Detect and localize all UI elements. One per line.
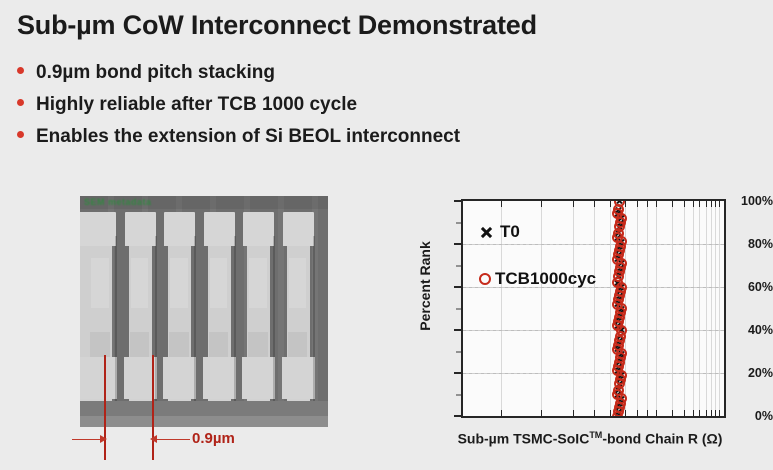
x-axis-tick [672, 410, 673, 416]
x-axis-tick-top [573, 201, 574, 207]
dimension-arrow-right-head-icon [100, 435, 107, 443]
x-axis-tick-top [672, 201, 673, 207]
sem-pillar [247, 212, 270, 405]
sem-pillar-foot [242, 357, 275, 399]
chart-legend: T0 TCB1000cyc [479, 217, 596, 294]
list-item: 0.9µm bond pitch stacking [17, 62, 617, 94]
x-axis-tick-top [693, 201, 694, 207]
x-axis-tick [684, 410, 685, 416]
sem-pillar-partial [80, 212, 89, 405]
x-axis-tick [501, 410, 502, 416]
sem-pillar-seam [234, 236, 236, 401]
x-axis-tick [541, 410, 542, 416]
sem-image-canvas: SEM metadata [80, 196, 328, 427]
vertical-gridline [684, 201, 685, 416]
sem-pillar [287, 212, 310, 405]
x-axis-tick-top [541, 201, 542, 207]
sem-pillar-body [80, 246, 89, 357]
sem-pillar-head [283, 212, 314, 246]
vertical-gridline [699, 201, 700, 416]
sem-pillar-grain [170, 258, 187, 308]
y-axis-title: Percent Rank [417, 216, 433, 356]
sem-pillar-seam [313, 236, 315, 401]
dimension-callout: 0.9µm [72, 430, 282, 450]
dimension-label: 0.9µm [192, 430, 235, 447]
legend-label: T0 [500, 222, 520, 242]
x-axis-tick [637, 410, 638, 416]
vertical-gridline [706, 201, 707, 416]
x-axis-tick-top [647, 201, 648, 207]
horizontal-gridline [463, 373, 724, 374]
x-axis-tick [594, 410, 595, 416]
bullet-text: 0.9µm bond pitch stacking [36, 62, 275, 84]
bullet-text: Highly reliable after TCB 1000 cycle [36, 94, 357, 116]
sem-pillar-head [164, 212, 195, 246]
sem-pillar-grain [131, 258, 148, 308]
sem-pillar [208, 212, 231, 405]
x-axis-tick [711, 410, 712, 416]
dimension-arrow-right-stem [156, 439, 190, 440]
x-axis-tick-top [699, 201, 700, 207]
x-axis-tick [693, 410, 694, 416]
sem-pillar-grain [249, 258, 266, 308]
vertical-gridline [656, 201, 657, 416]
sem-pillar-foot [203, 357, 236, 399]
dimension-arrow-left-stem [72, 439, 102, 440]
x-axis-tick [699, 410, 700, 416]
sem-pillar-foot [282, 357, 315, 399]
x-axis-title: Sub-µm TSMC-SoICTM-bond Chain R (Ω) [420, 430, 760, 447]
percent-rank-chart: Percent Rank 0%20%40%60%80%100% T0 TCB10… [400, 186, 773, 470]
circle-marker-icon [479, 273, 491, 285]
sem-pillar-seam [273, 236, 275, 401]
x-axis-tick-top [711, 201, 712, 207]
horizontal-gridline [463, 330, 724, 331]
data-series-column [609, 199, 631, 418]
sem-pillar-head [243, 212, 274, 246]
x-axis-tick-top [719, 201, 720, 207]
bullet-text: Enables the extension of Si BEOL interco… [36, 126, 460, 148]
x-axis-tick [647, 410, 648, 416]
sem-pillar-seam [194, 236, 196, 401]
sem-pillar-head [80, 212, 93, 246]
bullet-dot-icon [17, 99, 24, 106]
legend-item-tcb1000cyc: TCB1000cyc [479, 264, 596, 294]
x-axis-tick [656, 410, 657, 416]
list-item: Enables the extension of Si BEOL interco… [17, 126, 617, 158]
x-axis-tick-top [656, 201, 657, 207]
data-point-tcb1000cyc [614, 199, 625, 207]
x-axis-tick-top [706, 201, 707, 207]
slide-root: Sub-µm CoW Interconnect Demonstrated 0.9… [0, 0, 773, 470]
sem-pillar-grain [91, 258, 108, 308]
sem-pillar [168, 212, 191, 405]
vertical-gridline [637, 201, 638, 416]
x-axis-title-prefix: Sub-µm TSMC-SoIC [458, 431, 590, 447]
sem-pillar-foot [163, 357, 196, 399]
vertical-gridline [647, 201, 648, 416]
list-item: Highly reliable after TCB 1000 cycle [17, 94, 617, 126]
sem-pillar [129, 212, 152, 405]
x-axis-tick-top [501, 201, 502, 207]
plot-area: T0 TCB1000cyc [461, 199, 726, 418]
bullet-dot-icon [17, 67, 24, 74]
legend-label: TCB1000cyc [495, 269, 596, 289]
x-axis-tick [706, 410, 707, 416]
sem-pillar-foot [80, 357, 94, 399]
x-axis-title-suffix: -bond Chain R (Ω) [602, 431, 722, 447]
sem-pillar-grain [210, 258, 227, 308]
x-axis-tick-top [684, 201, 685, 207]
cross-marker-icon [479, 225, 494, 240]
page-title: Sub-µm CoW Interconnect Demonstrated [17, 10, 537, 41]
sem-pillar-grain [289, 258, 306, 308]
x-axis-tick [573, 410, 574, 416]
sem-overlay-text: SEM metadata [84, 197, 152, 207]
sem-substrate-band-lower [80, 416, 328, 427]
vertical-gridline [672, 201, 673, 416]
x-axis-tick-top [594, 201, 595, 207]
bullet-list: 0.9µm bond pitch stacking Highly reliabl… [17, 62, 617, 158]
legend-item-t0: T0 [479, 217, 596, 247]
x-axis-title-superscript: TM [589, 430, 602, 440]
sem-pillar-head [204, 212, 235, 246]
sem-pillar-seam [155, 236, 157, 401]
sem-pillar-seam [115, 236, 117, 401]
vertical-gridline [693, 201, 694, 416]
sem-cross-section-image: SEM metadata [80, 196, 328, 427]
x-axis-tick [719, 410, 720, 416]
vertical-gridline [719, 201, 720, 416]
x-axis-tick [715, 410, 716, 416]
vertical-gridline [711, 201, 712, 416]
bullet-dot-icon [17, 131, 24, 138]
x-axis-tick-top [715, 201, 716, 207]
x-axis-tick-top [637, 201, 638, 207]
vertical-gridline [715, 201, 716, 416]
sem-pillar-head [125, 212, 156, 246]
